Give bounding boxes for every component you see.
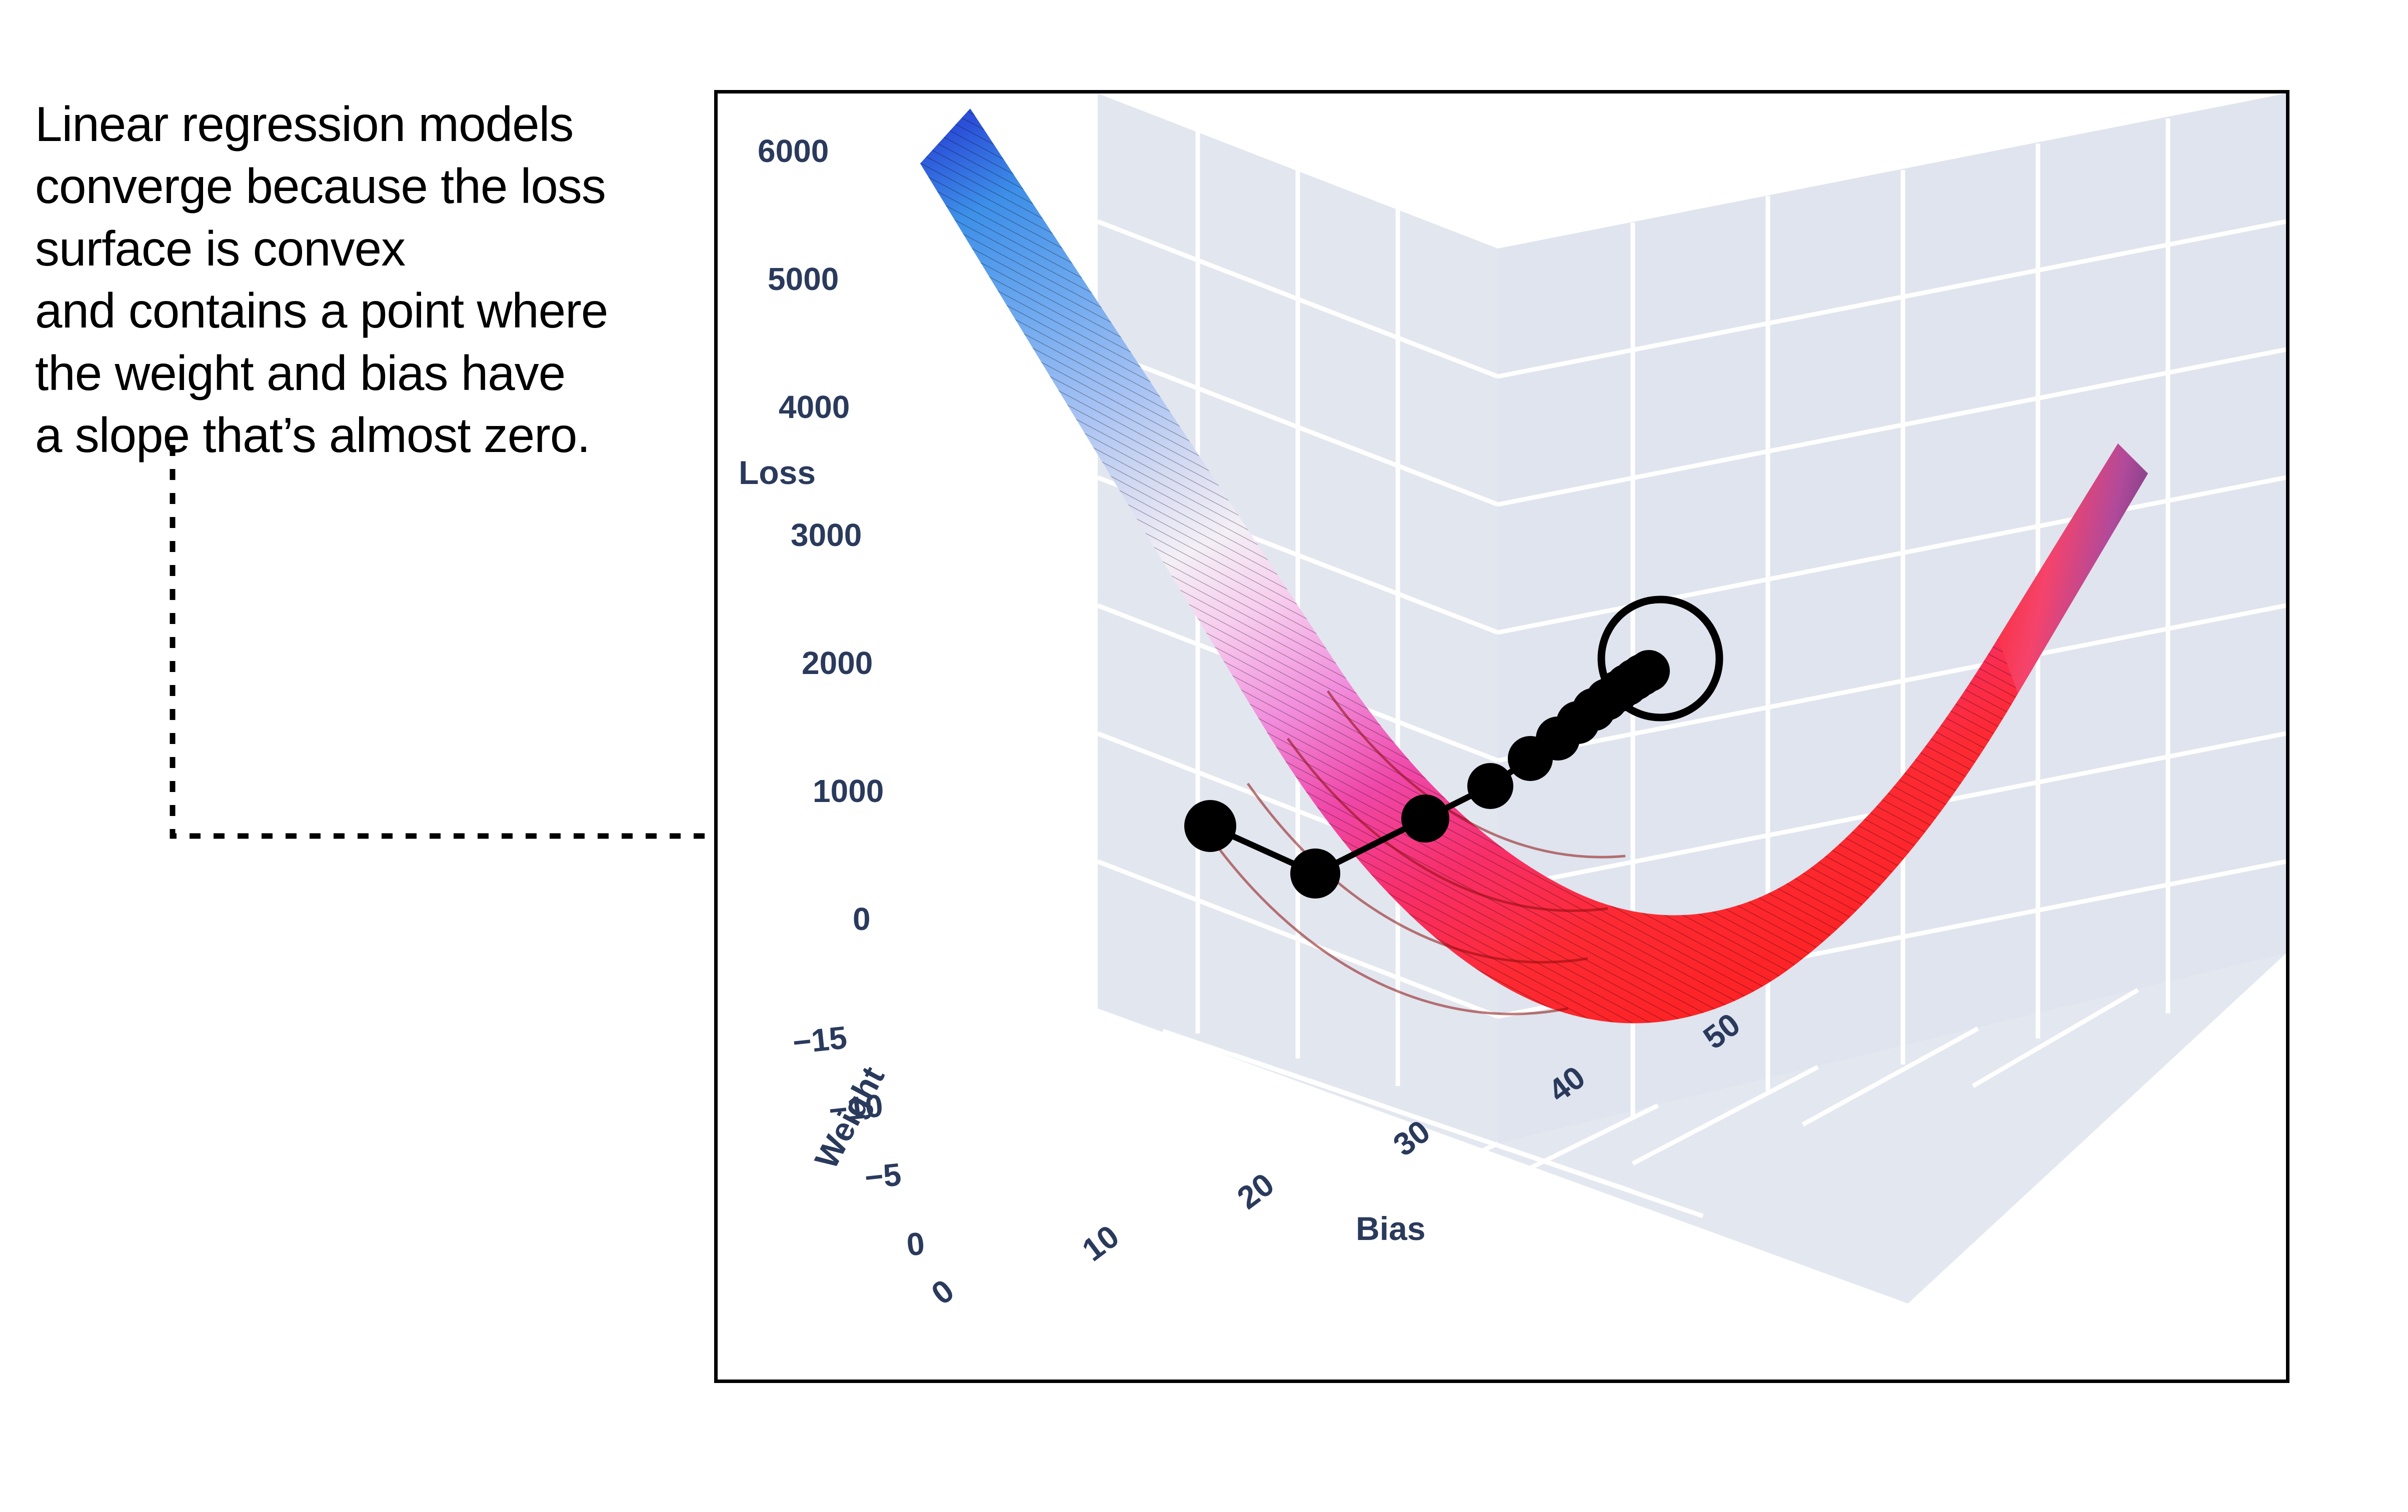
loss-tick-5000: 5000 [768,260,839,297]
weight-tick-0: 0 [905,1224,926,1263]
loss-tick-6000: 6000 [758,132,829,169]
bias-axis-label: Bias [1356,1209,1425,1247]
loss-tick-0: 0 [853,900,871,937]
weight-tick-minus15: −15 [791,1019,849,1061]
trajectory-point [1290,848,1340,898]
loss-tick-2000: 2000 [802,644,873,681]
loss-axis-label: Loss [739,453,816,491]
loss-tick-4000: 4000 [779,388,850,425]
surface-plot [718,93,2286,1379]
weight-tick-minus5: −5 [863,1155,903,1196]
trajectory-point [1401,794,1449,842]
trajectory-point [1184,800,1236,852]
trajectory-point [1467,763,1513,809]
chart-frame: 6000 5000 4000 3000 2000 1000 0 Loss −15… [714,90,2289,1383]
loss-tick-1000: 1000 [813,772,884,809]
trajectory-point [1628,650,1670,692]
annotation-paragraph: Linear regression models converge becaus… [35,93,660,466]
loss-tick-3000: 3000 [791,516,862,553]
